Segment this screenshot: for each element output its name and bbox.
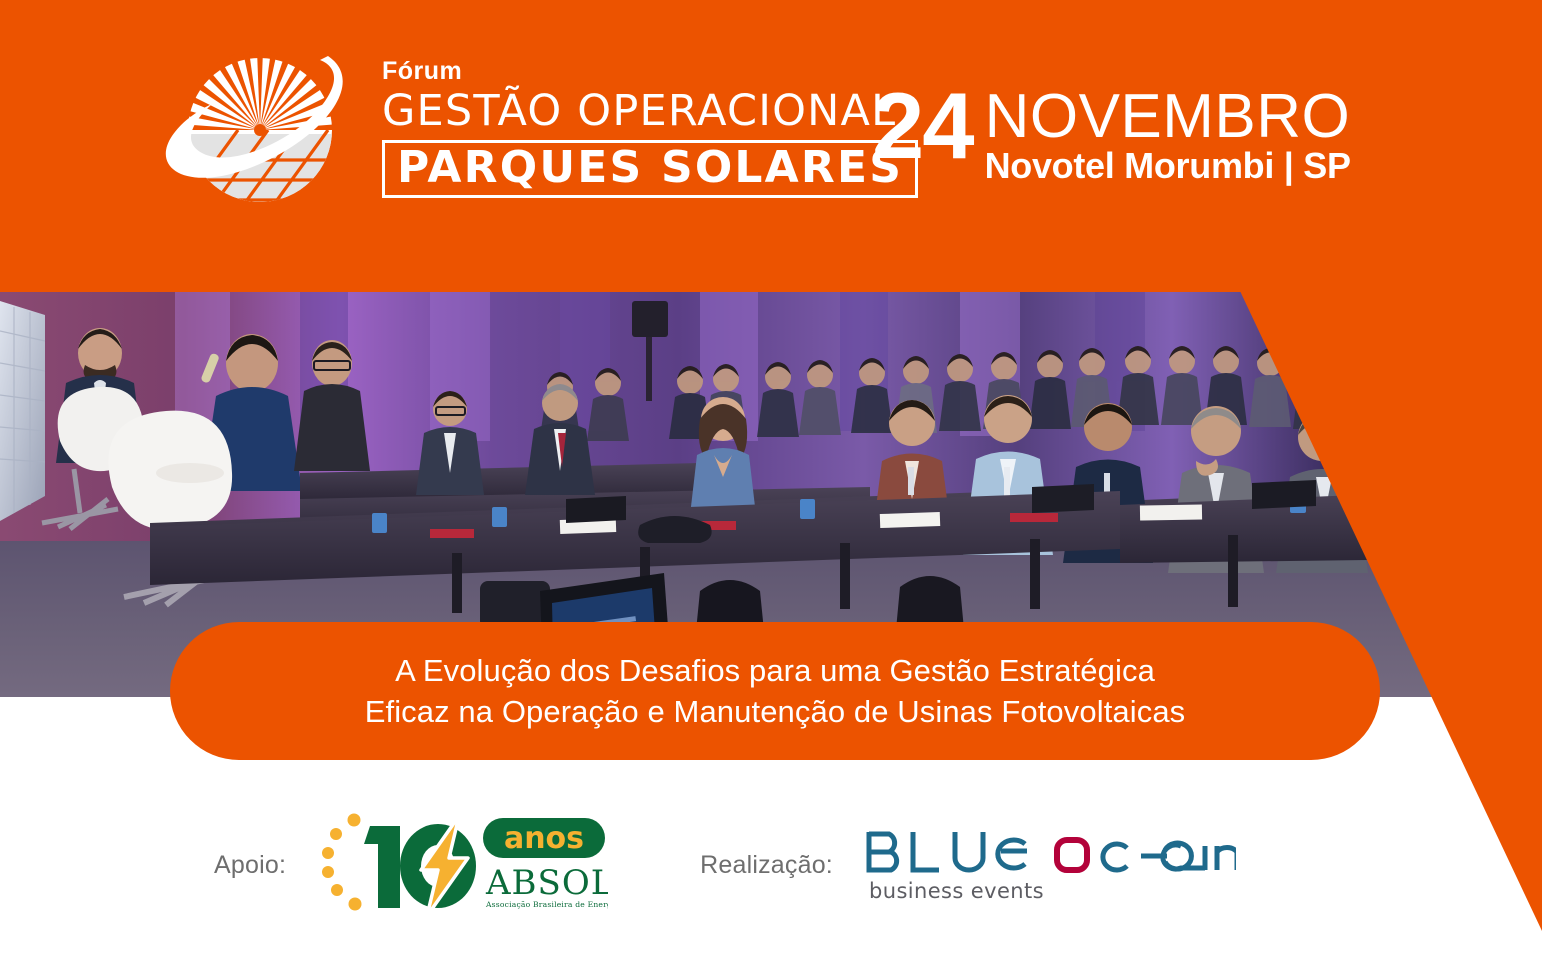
event-venue: Novotel Morumbi | SP bbox=[985, 147, 1351, 185]
event-banner: Fórum GESTÃO OPERACIONAL PARQUES SOLARES… bbox=[0, 0, 1542, 959]
event-month: NOVEMBRO bbox=[985, 88, 1351, 145]
event-title-line2: PARQUES SOLARES bbox=[397, 146, 903, 190]
banner-footer: Apoio: bbox=[0, 780, 1450, 950]
support-credit-group: Apoio: bbox=[214, 808, 608, 923]
session-title-line1: A Evolução dos Desafios para uma Gestão … bbox=[395, 650, 1155, 691]
absolar-brand-text: ABSOLAR bbox=[485, 863, 608, 903]
event-title-line1: GESTÃO OPERACIONAL bbox=[382, 89, 918, 134]
event-day: 24 bbox=[872, 86, 973, 167]
event-title-wordmark: Fórum GESTÃO OPERACIONAL PARQUES SOLARES bbox=[382, 53, 918, 199]
session-title-line2: Eficaz na Operação e Manutenção de Usina… bbox=[365, 691, 1186, 732]
absolar-anos-text: anos bbox=[504, 821, 584, 856]
event-logo-lockup: Fórum GESTÃO OPERACIONAL PARQUES SOLARES bbox=[160, 38, 918, 213]
event-date-block: 24 NOVEMBRO Novotel Morumbi | SP bbox=[872, 86, 1351, 185]
organizer-label: Realização: bbox=[700, 851, 833, 880]
event-title-line2-box: PARQUES SOLARES bbox=[382, 140, 918, 198]
organizer-credit-group: Realização: bbox=[700, 824, 1236, 906]
absolar-logo[interactable]: anos ABSOLAR Associação Brasileira de En… bbox=[318, 808, 608, 923]
session-title-pill: A Evolução dos Desafios para uma Gestão … bbox=[170, 622, 1380, 760]
banner-header: Fórum GESTÃO OPERACIONAL PARQUES SOLARES… bbox=[0, 0, 1542, 292]
support-label: Apoio: bbox=[214, 851, 286, 880]
solar-globe-logo-icon bbox=[160, 38, 360, 213]
forum-label: Fórum bbox=[382, 59, 918, 84]
absolar-tagline-text: Associação Brasileira de Energia Solar F… bbox=[485, 900, 608, 909]
blue-ocean-tagline-text: business events bbox=[869, 879, 1044, 903]
blue-ocean-logo[interactable]: business events bbox=[861, 824, 1236, 906]
